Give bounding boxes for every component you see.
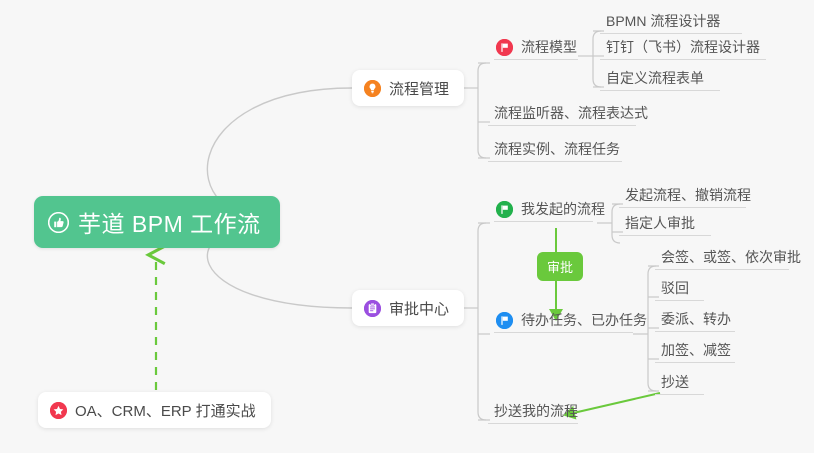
node-process-management[interactable]: 流程管理 xyxy=(352,70,464,106)
thumbs-up-icon xyxy=(48,212,69,233)
wire-pm-bracket xyxy=(478,63,486,158)
mindmap-canvas: 芋道 BPM 工作流 流程管理 流程模型 BPMN 流程设计器 钉钉 xyxy=(0,0,814,453)
leaf-label: 抄送我的流程 xyxy=(494,402,578,420)
leaf-dingtalk-feishu-designer[interactable]: 钉钉（飞书）流程设计器 xyxy=(600,38,766,60)
leaf-cc[interactable]: 抄送 xyxy=(655,373,704,395)
node-label: 流程管理 xyxy=(389,78,449,99)
callout-label: 审批 xyxy=(547,260,573,275)
leaf-label: 会签、或签、依次审批 xyxy=(661,248,801,266)
leaf-reject[interactable]: 驳回 xyxy=(655,279,704,301)
leaf-bpmn-designer[interactable]: BPMN 流程设计器 xyxy=(600,12,742,34)
leaf-designated-approver[interactable]: 指定人审批 xyxy=(619,214,711,236)
node-label: OA、CRM、ERP 打通实战 xyxy=(75,400,256,421)
clipboard-icon xyxy=(364,300,381,317)
node-integration-practice[interactable]: OA、CRM、ERP 打通实战 xyxy=(38,392,271,428)
leaf-label: 流程模型 xyxy=(521,38,577,56)
flag-icon xyxy=(496,312,513,329)
leaf-label: BPMN 流程设计器 xyxy=(606,12,720,30)
leaf-start-cancel-flow[interactable]: 发起流程、撤销流程 xyxy=(619,186,746,208)
leaf-process-model[interactable]: 流程模型 xyxy=(494,38,578,60)
leaf-label: 我发起的流程 xyxy=(521,200,605,218)
node-label: 审批中心 xyxy=(389,298,449,319)
node-approval-center[interactable]: 审批中心 xyxy=(352,290,464,326)
leaf-label: 流程监听器、流程表达式 xyxy=(494,104,648,122)
leaf-process-listener[interactable]: 流程监听器、流程表达式 xyxy=(488,104,636,126)
leaf-delegate-transfer[interactable]: 委派、转办 xyxy=(655,310,735,332)
leaf-label: 自定义流程表单 xyxy=(606,69,704,87)
leaf-countersign-options[interactable]: 会签、或签、依次审批 xyxy=(655,248,789,270)
leaf-label: 委派、转办 xyxy=(661,310,731,328)
wire-ac-bracket xyxy=(478,223,486,420)
leaf-label: 流程实例、流程任务 xyxy=(494,140,620,158)
leaf-add-remove-sign[interactable]: 加签、减签 xyxy=(655,341,735,363)
leaf-label: 待办任务、已办任务 xyxy=(521,311,647,329)
leaf-label: 加签、减签 xyxy=(661,341,731,359)
leaf-cc-to-me-flows[interactable]: 抄送我的流程 xyxy=(488,402,578,424)
flag-icon xyxy=(496,39,513,56)
lightbulb-icon xyxy=(364,80,381,97)
root-label: 芋道 BPM 工作流 xyxy=(78,205,261,239)
root-node[interactable]: 芋道 BPM 工作流 xyxy=(34,196,280,248)
leaf-label: 指定人审批 xyxy=(625,214,695,232)
flag-icon xyxy=(496,201,513,218)
leaf-todo-done-tasks[interactable]: 待办任务、已办任务 xyxy=(494,311,633,333)
leaf-label: 钉钉（飞书）流程设计器 xyxy=(606,38,760,56)
leaf-label: 发起流程、撤销流程 xyxy=(625,186,751,204)
leaf-my-initiated-flows[interactable]: 我发起的流程 xyxy=(494,200,593,222)
callout-approve[interactable]: 审批 xyxy=(537,252,583,281)
star-icon xyxy=(50,402,67,419)
arrow-cc-to-my-cc-flow xyxy=(569,393,660,414)
leaf-label: 抄送 xyxy=(661,373,689,391)
leaf-custom-process-form[interactable]: 自定义流程表单 xyxy=(600,69,720,91)
leaf-label: 驳回 xyxy=(661,279,689,297)
leaf-process-instance[interactable]: 流程实例、流程任务 xyxy=(488,140,622,162)
